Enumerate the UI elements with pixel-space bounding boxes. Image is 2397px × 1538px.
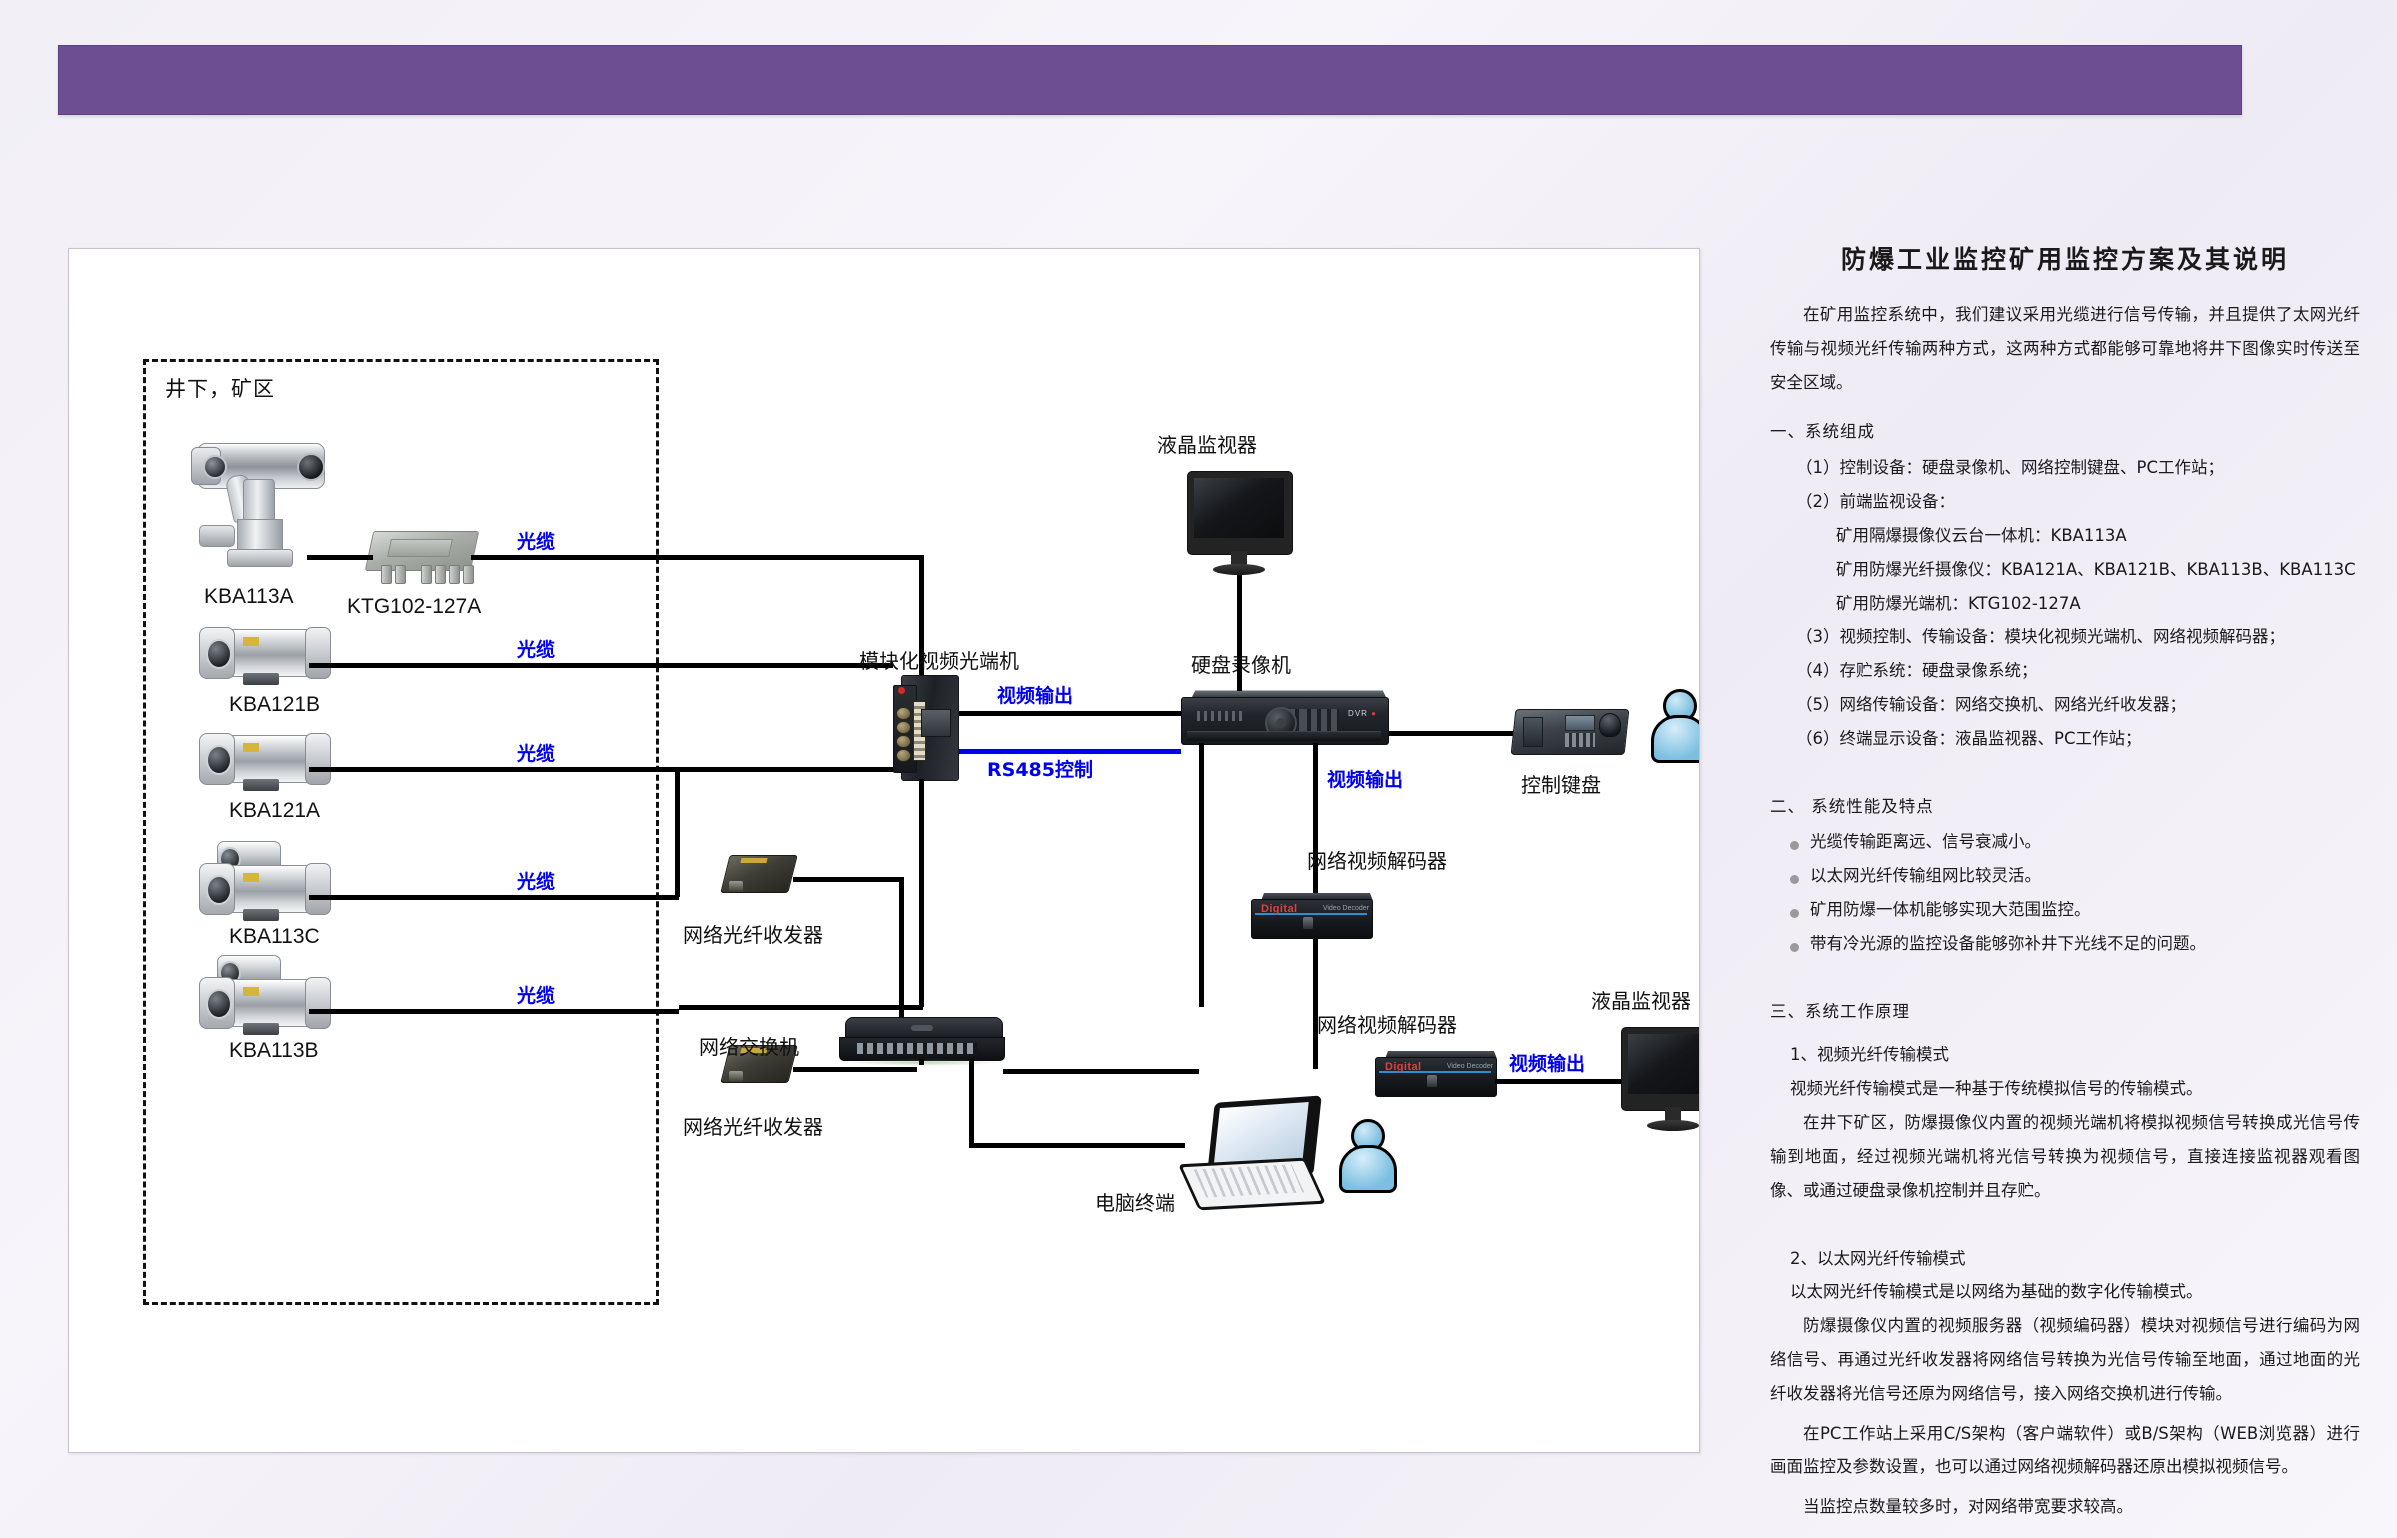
label-modular-optical-transceiver: 模块化视频光端机	[859, 645, 1019, 674]
section-3-paragraph-5: 在PC工作站上采用C/S架构（客户端软件）或B/S架构（WEB浏览器）进行画面监…	[1770, 1417, 2360, 1485]
device-lcd-monitor-bottom	[1621, 1027, 1700, 1133]
label-fiber-transceiver-upper: 网络光纤收发器	[683, 919, 823, 948]
label-video-output-1: 视频输出	[997, 681, 1073, 708]
label-control-keyboard: 控制键盘	[1521, 769, 1601, 798]
wire-switch-stub2	[919, 1059, 924, 1065]
section-1-sub-3: 矿用防爆光端机：KTG102-127A	[1770, 587, 2360, 621]
label-lcd-monitor-bottom: 液晶监视器	[1591, 985, 1691, 1014]
label-fiber-1: 光缆	[517, 527, 555, 554]
section-1-sub-1: 矿用隔爆摄像仪云台一体机：KBA113A	[1770, 519, 2360, 553]
wire-trunk-to-optmod	[675, 767, 897, 772]
device-camera-kba121a	[197, 727, 335, 799]
label-fiber-3: 光缆	[517, 739, 555, 766]
wire-kba113c-to-riser	[309, 895, 679, 900]
wire-optmod-bottom-join	[679, 1005, 923, 1010]
wire-optmod-down	[919, 779, 924, 1007]
label-kba113c: KBA113C	[229, 925, 320, 949]
section-3-paragraph-3: 以太网光纤传输模式是以网络为基础的数字化传输模式。	[1770, 1275, 2360, 1309]
device-laptop-terminal	[1185, 1099, 1325, 1203]
wire-switch-to-laptop	[969, 1143, 1185, 1148]
label-rs485-control: RS485控制	[987, 755, 1093, 782]
label-fiber-transceiver-lower: 网络光纤收发器	[683, 1111, 823, 1140]
operator-avatar-1	[1649, 689, 1700, 757]
operator-avatar-2	[1337, 1119, 1393, 1187]
device-network-video-decoder-1: DigitalVideo Decoder	[1251, 889, 1379, 945]
wire-dvr-to-keyboard	[1389, 731, 1513, 736]
section-1-sub-2: 矿用防爆光纤摄像仪：KBA121A、KBA121B、KBA113B、KBA113…	[1770, 553, 2360, 587]
label-kba121b: KBA121B	[229, 693, 320, 717]
section-3-paragraph-2: 在井下矿区，防爆摄像仪内置的视频光端机将模拟视频信号转换成光信号传输到地面，经过…	[1770, 1106, 2360, 1207]
section-2-bullet-3: 矿用防爆一体机能够实现大范围监控。	[1770, 893, 2360, 927]
label-fiber-5: 光缆	[517, 981, 555, 1008]
label-pc-terminal: 电脑终端	[1095, 1187, 1175, 1216]
section-3-paragraph-6: 当监控点数量较多时，对网络带宽要求较高。	[1770, 1490, 2360, 1524]
device-control-keyboard	[1513, 701, 1625, 757]
label-video-output-2: 视频输出	[1327, 765, 1403, 792]
document-title: 防爆工业监控矿用监控方案及其说明	[1770, 240, 2360, 276]
section-1-item-4: （4）存贮系统：硬盘录像系统；	[1770, 654, 2360, 688]
device-camera-kba121b	[197, 621, 335, 693]
spacer-3	[1770, 1214, 2360, 1232]
section-2-heading: 二、 系统性能及特点	[1770, 790, 2360, 824]
section-3-paragraph-1: 视频光纤传输模式是一种基于传统模拟信号的传输模式。	[1770, 1072, 2360, 1106]
label-network-switch: 网络交换机	[699, 1031, 799, 1060]
section-2-bullet-4: 带有冷光源的监控设备能够弥补井下光线不足的问题。	[1770, 927, 2360, 961]
wire-kba121a-to-riser	[309, 767, 679, 772]
device-dvr: DVR ●	[1181, 687, 1391, 753]
label-network-video-decoder-1: 网络视频解码器	[1307, 845, 1447, 874]
wire-kba121b-to-optmod	[309, 663, 893, 668]
section-3-paragraph-4: 防爆摄像仪内置的视频服务器（视频编码器）模块对视频信号进行编码为网络信号、再通过…	[1770, 1309, 2360, 1410]
device-camera-kba113b	[197, 971, 335, 1043]
section-1-item-3: （3）视频控制、传输设备：模块化视频光端机、网络视频解码器；	[1770, 620, 2360, 654]
section-3-heading: 三、系统工作原理	[1770, 995, 2360, 1029]
wire-optmod-join-stub	[679, 1005, 684, 1009]
spacer-2	[1770, 961, 2360, 979]
label-fiber-4: 光缆	[517, 867, 555, 894]
label-lcd-monitor-top: 液晶监视器	[1157, 429, 1257, 458]
wire-kba113a-to-jbox	[307, 555, 373, 560]
network-diagram-panel: 井下，矿区 KBA113A KTG102-127A 光缆 KBA121B 光缆 …	[68, 248, 1700, 1453]
section-3-sub-heading-1: 1、视频光纤传输模式	[1770, 1038, 2360, 1072]
wire-decoder1-down	[1313, 943, 1318, 1069]
wire-fmc-upper-down	[899, 877, 904, 1019]
wire-jbox-to-riser	[471, 555, 923, 560]
device-network-video-decoder-2: DigitalVideo Decoder	[1375, 1047, 1503, 1103]
label-ktg102-127a: KTG102-127A	[347, 595, 481, 619]
wire-switch-down-laptop	[969, 1059, 974, 1147]
spacer-1	[1770, 756, 2360, 774]
wire-kba113b-to-transceiver	[309, 1009, 679, 1014]
device-fiber-transceiver-upper	[719, 849, 797, 901]
device-modular-video-optical-transceiver	[893, 675, 959, 779]
label-network-video-decoder-2: 网络视频解码器	[1317, 1009, 1457, 1038]
device-lcd-monitor-top	[1187, 471, 1291, 577]
wire-fmc-upper-right	[793, 877, 903, 882]
device-camera-kba113c	[197, 857, 335, 929]
section-1-item-5: （5）网络传输设备：网络交换机、网络光纤收发器；	[1770, 688, 2360, 722]
device-ptz-camera-kba113a	[189, 429, 339, 574]
wire-dvr-down-to-switch	[1199, 743, 1204, 1007]
wire-trunk-fiber	[675, 767, 680, 897]
label-kba113b: KBA113B	[229, 1039, 319, 1063]
device-junction-box-ktg102	[369, 531, 473, 587]
wire-rs485	[959, 749, 1181, 754]
section-1-item-2: （2）前端监视设备：	[1770, 485, 2360, 519]
section-3-sub-heading-2: 2、以太网光纤传输模式	[1770, 1242, 2360, 1276]
wire-video-out-1	[959, 711, 1181, 716]
section-2-bullet-1: 光缆传输距离远、信号衰减小。	[1770, 825, 2360, 859]
label-kba121a: KBA121A	[229, 799, 320, 823]
wire-switch-to-decoder2	[1003, 1069, 1199, 1074]
mine-zone-label: 井下，矿区	[165, 373, 275, 403]
label-fiber-2: 光缆	[517, 635, 555, 662]
label-kba113a: KBA113A	[204, 585, 294, 609]
section-1-item-6: （6）终端显示设备：液晶监视器、PC工作站；	[1770, 722, 2360, 756]
intro-paragraph: 在矿用监控系统中，我们建议采用光缆进行信号传输，并且提供了太网光纤传输与视频光纤…	[1770, 298, 2360, 399]
header-band	[58, 45, 2242, 115]
section-1-item-1: （1）控制设备：硬盘录像机、网络控制键盘、PC工作站；	[1770, 451, 2360, 485]
wire-dvr-to-monitor	[1237, 575, 1242, 691]
section-2-bullet-2: 以太网光纤传输组网比较灵活。	[1770, 859, 2360, 893]
wire-decoder2-to-monitor	[1495, 1079, 1623, 1084]
section-1-heading: 一、系统组成	[1770, 415, 2360, 449]
description-column: 防爆工业监控矿用监控方案及其说明 在矿用监控系统中，我们建议采用光缆进行信号传输…	[1770, 240, 2360, 1530]
label-video-output-3: 视频输出	[1509, 1049, 1585, 1076]
